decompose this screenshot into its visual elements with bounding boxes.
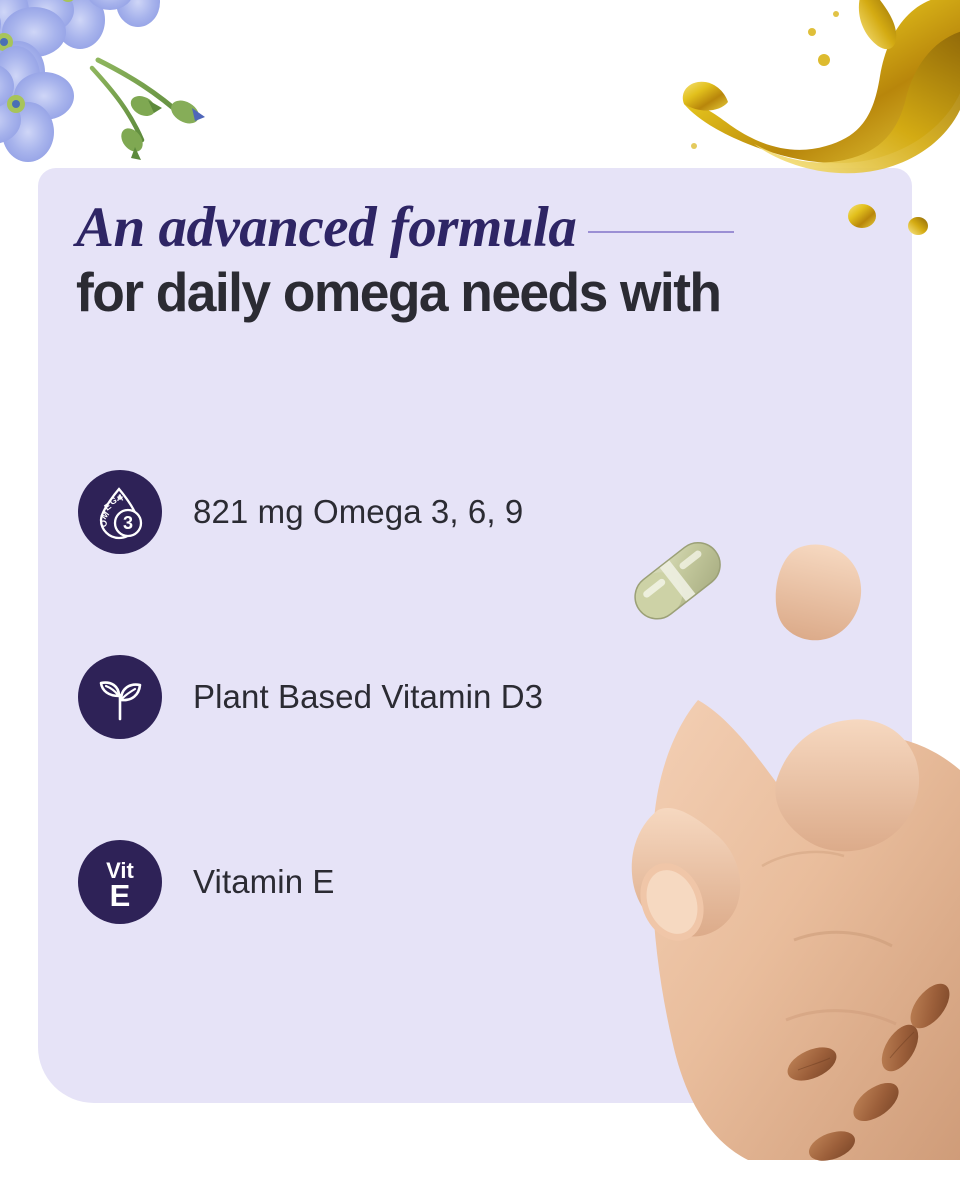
page-title-subline: for daily omega needs with xyxy=(76,264,871,322)
vit-icon-text-bottom: E xyxy=(110,878,131,913)
feature-item-vitamin-e: Vit E Vitamin E xyxy=(78,840,838,1025)
vitamin-e-icon: Vit E xyxy=(78,840,162,924)
page-title-script: An advanced formula xyxy=(76,199,576,256)
feature-item-vitamin-d3: Plant Based Vitamin D3 xyxy=(78,655,838,840)
feature-label-vitamin-e: Vitamin E xyxy=(193,840,335,924)
feature-item-omega: O M E G A + 3 821 mg Omega 3, 6, 9 xyxy=(78,470,838,655)
feature-label-omega: 821 mg Omega 3, 6, 9 xyxy=(193,470,523,554)
omega-3-droplet-icon: O M E G A + 3 xyxy=(78,470,162,554)
flax-flowers-image xyxy=(0,0,230,187)
feature-label-vitamin-d3: Plant Based Vitamin D3 xyxy=(193,655,543,739)
headline-block: An advanced formula for daily omega need… xyxy=(76,196,896,322)
headline-line-one: An advanced formula xyxy=(76,196,896,258)
svg-text:+: + xyxy=(117,492,123,504)
headline-divider-rule xyxy=(588,231,734,233)
feature-list: O M E G A + 3 821 mg Omega 3, 6, 9 xyxy=(78,470,838,1025)
plant-sprout-icon xyxy=(78,655,162,739)
infographic-canvas: An advanced formula for daily omega need… xyxy=(0,0,960,1200)
svg-text:3: 3 xyxy=(123,513,133,533)
